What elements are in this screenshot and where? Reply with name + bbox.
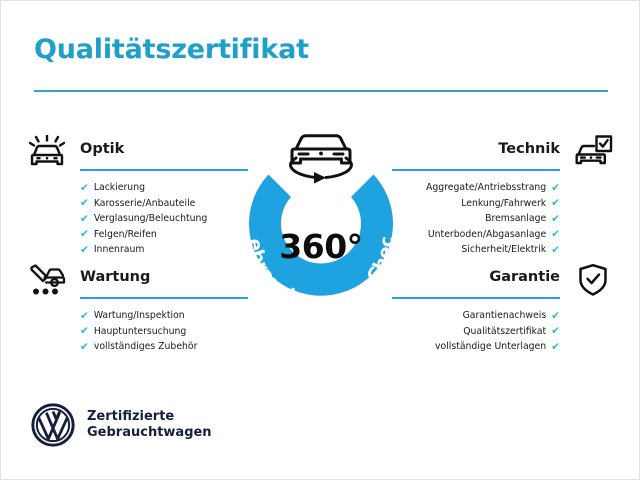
vw-footer-line2: Gebrauchtwagen [87,425,212,441]
list-item: vollständige Unterlagen✔ [389,339,615,355]
section-header: Technik [389,133,615,171]
list-item: Bremsanlage✔ [389,211,615,227]
check-icon: ✔ [80,326,89,337]
check-icon: ✔ [551,198,560,209]
vw-footer-text: Zertifizierte Gebrauchtwagen [87,409,212,441]
check-icon: ✔ [80,342,89,353]
section-technik: Technik Aggregate/Antriebsstrang✔ Lenkun… [389,133,615,258]
list-item-label: Karosserie/Anbauteile [94,196,196,212]
page-title: Qualitätszertifikat [34,34,309,65]
list-item: ✔Innenraum [25,242,251,258]
checklist-wartung: ✔Wartung/Inspektion ✔Hauptuntersuchung ✔… [25,308,251,355]
check-icon: ✔ [551,342,560,353]
check-icon: ✔ [551,229,560,240]
check-icon: ✔ [80,311,89,322]
section-divider [392,169,560,171]
section-wartung: Wartung ✔Wartung/Inspektion ✔Hauptunters… [25,261,251,355]
section-header: Garantie [389,261,615,299]
section-garantie: Garantie Garantienachweis✔ Qualitätszert… [389,261,615,355]
section-divider [392,297,560,299]
check-icon: ✔ [80,245,89,256]
certificate-page: Qualitätszertifikat [0,0,640,480]
badge-number: 360° [227,227,415,266]
list-item-label: Garantienachweis [463,308,547,324]
wrench-car-icon [25,261,69,299]
section-title: Optik [80,141,124,157]
list-item-label: Hauptuntersuchung [94,324,187,340]
list-item: ✔Lackierung [25,180,251,196]
vw-footer-line1: Zertifizierte [87,409,212,425]
section-header: Wartung [25,261,251,299]
check-icon: ✔ [551,214,560,225]
list-item: Aggregate/Antriebsstrang✔ [389,180,615,196]
list-item: Lenkung/Fahrwerk✔ [389,196,615,212]
section-title: Garantie [489,269,560,285]
section-title: Wartung [80,269,150,285]
list-item-label: Unterboden/Abgasanlage [428,227,546,243]
list-item-label: Innenraum [94,242,145,258]
list-item-label: Bremsanlage [485,211,546,227]
list-item-label: Lenkung/Fahrwerk [461,196,546,212]
list-item-label: Aggregate/Antriebsstrang [426,180,546,196]
list-item-label: vollständige Unterlagen [435,339,546,355]
section-header: Optik [25,133,251,171]
list-item: ✔Wartung/Inspektion [25,308,251,324]
list-item: ✔Verglasung/Beleuchtung [25,211,251,227]
section-divider [80,169,248,171]
list-item-label: vollständiges Zubehör [94,339,198,355]
list-item: Unterboden/Abgasanlage✔ [389,227,615,243]
checklist-technik: Aggregate/Antriebsstrang✔ Lenkung/Fahrwe… [389,180,615,258]
list-item-label: Sicherheit/Elektrik [461,242,546,258]
check-icon: ✔ [551,326,560,337]
list-item-label: Verglasung/Beleuchtung [94,211,208,227]
list-item-label: Lackierung [94,180,145,196]
car-checkbox-icon [571,133,615,171]
checklist-optik: ✔Lackierung ✔Karosserie/Anbauteile ✔Verg… [25,180,251,258]
title-divider [34,90,608,92]
vw-footer-logo: Zertifizierte Gebrauchtwagen [31,403,212,447]
list-item-label: Qualitätszertifikat [463,324,546,340]
check-icon: ✔ [80,198,89,209]
badge-360-gebrauchtwagen-check: Gebrauchtwagen-Check 360° [227,119,415,315]
list-item-label: Wartung/Inspektion [94,308,185,324]
shield-check-icon [571,261,615,299]
list-item: ✔Karosserie/Anbauteile [25,196,251,212]
list-item: ✔Hauptuntersuchung [25,324,251,340]
list-item-label: Felgen/Reifen [94,227,157,243]
list-item: ✔vollständiges Zubehör [25,339,251,355]
check-icon: ✔ [551,245,560,256]
vw-logo-icon [31,403,75,447]
section-optik: Optik ✔Lackierung ✔Karosserie/Anbauteile… [25,133,251,258]
check-icon: ✔ [551,311,560,322]
list-item: Qualitätszertifikat✔ [389,324,615,340]
checklist-garantie: Garantienachweis✔ Qualitätszertifikat✔ v… [389,308,615,355]
list-item: Sicherheit/Elektrik✔ [389,242,615,258]
check-icon: ✔ [80,214,89,225]
section-divider [80,297,248,299]
check-icon: ✔ [80,229,89,240]
section-title: Technik [498,141,560,157]
check-icon: ✔ [551,183,560,194]
list-item: ✔Felgen/Reifen [25,227,251,243]
list-item: Garantienachweis✔ [389,308,615,324]
car-shine-icon [25,133,69,171]
check-icon: ✔ [80,183,89,194]
